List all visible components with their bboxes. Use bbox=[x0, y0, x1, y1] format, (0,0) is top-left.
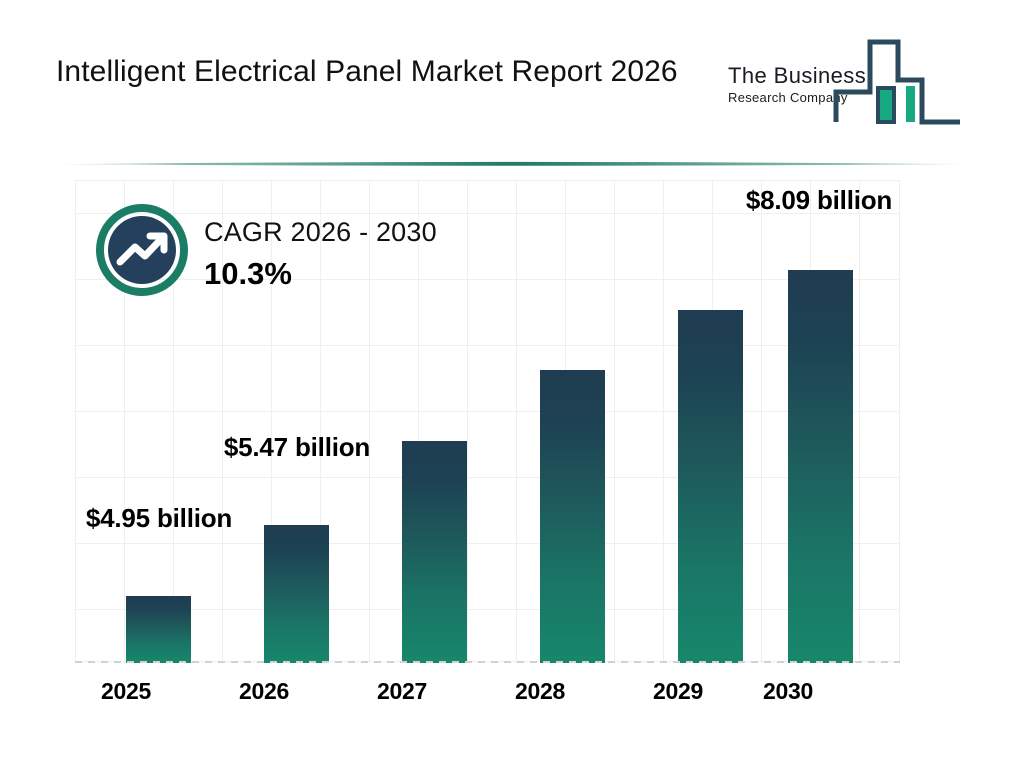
xtick-2027: 2027 bbox=[327, 678, 477, 705]
cagr-text: CAGR 2026 - 2030 10.3% bbox=[204, 214, 437, 295]
value-label-2030: $8.09 billion bbox=[744, 185, 894, 216]
xtick-2026: 2026 bbox=[189, 678, 339, 705]
bar-2028[interactable] bbox=[540, 370, 605, 663]
company-logo: The Business Research Company bbox=[728, 30, 978, 130]
bar-chart-logo-mark bbox=[832, 30, 964, 133]
value-label-2025: $4.95 billion bbox=[84, 503, 234, 534]
cagr-value: 10.3% bbox=[204, 253, 437, 295]
cagr-period-label: CAGR 2026 - 2030 bbox=[204, 214, 437, 251]
xtick-2030: 2030 bbox=[713, 678, 863, 705]
bar-2026[interactable] bbox=[264, 525, 329, 663]
chart-page: Intelligent Electrical Panel Market Repo… bbox=[0, 0, 1024, 768]
bar-2027[interactable] bbox=[402, 441, 467, 663]
bar-2025[interactable] bbox=[126, 596, 191, 663]
page-title: Intelligent Electrical Panel Market Repo… bbox=[56, 49, 716, 94]
bar-2029[interactable] bbox=[678, 310, 743, 663]
chart-baseline bbox=[75, 661, 900, 663]
bar-2030[interactable] bbox=[788, 270, 853, 663]
xtick-2028: 2028 bbox=[465, 678, 615, 705]
value-label-2026: $5.47 billion bbox=[222, 432, 372, 463]
xtick-2025: 2025 bbox=[51, 678, 201, 705]
trending-up-icon bbox=[96, 204, 188, 296]
header-divider bbox=[48, 155, 976, 164]
cagr-callout: CAGR 2026 - 2030 10.3% bbox=[96, 204, 516, 314]
